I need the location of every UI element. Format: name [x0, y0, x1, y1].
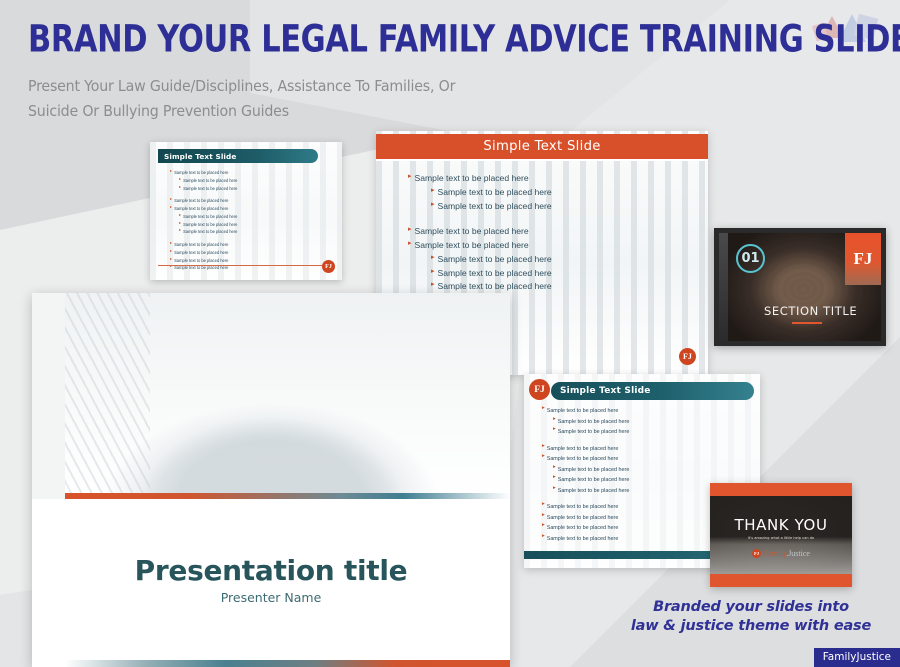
slide-heading-banner: Simple Text Slide: [551, 382, 754, 400]
bullet-arrow-icon: ▸: [179, 213, 181, 217]
bullet-text: Sample text to be placed here: [174, 205, 228, 213]
section-number-badge: 01: [736, 244, 765, 273]
slide-divider-bar: [65, 493, 510, 499]
bullet-arrow-icon: ▸: [170, 257, 172, 261]
bullet-text: Sample text to be placed here: [174, 241, 228, 249]
bullet-text: Sample text to be placed here: [438, 200, 552, 214]
bullet-item: ▸Sample text to be placed here: [179, 177, 285, 185]
slide-title-text: Presentation title: [32, 554, 510, 587]
bullet-text: Sample text to be placed here: [558, 427, 630, 438]
slide-footer-bar: [65, 660, 510, 667]
bullet-arrow-icon: ▸: [431, 254, 435, 261]
bullet-text: Sample text to be placed here: [183, 221, 237, 229]
bullet-arrow-icon: ▸: [431, 281, 435, 288]
slide-background-photo: [710, 496, 852, 574]
footer-tagline-line-2: law & justice theme with ease: [626, 617, 876, 636]
bullet-item: ▸Sample text to be placed here: [542, 406, 692, 417]
bullet-item: ▸Sample text to be placed here: [431, 200, 628, 214]
bullet-item: ▸Sample text to be placed here: [179, 221, 285, 229]
bullet-text: Sample text to be placed here: [183, 185, 237, 193]
bullet-item: ▸Sample text to be placed here: [553, 417, 692, 428]
bullet-item: ▸Sample text to be placed here: [170, 249, 285, 257]
bullet-text: Sample text to be placed here: [558, 486, 630, 497]
bullet-item: ▸Sample text to be placed here: [431, 253, 628, 267]
fj-logo-mark: FJ: [752, 549, 761, 558]
slide-presenter-name: Presenter Name: [32, 590, 510, 605]
slide-left-column: [719, 233, 728, 341]
bullet-text: Sample text to be placed here: [183, 228, 237, 236]
bullet-text: Sample text to be placed here: [438, 267, 552, 281]
slide-heading-text: Simple Text Slide: [560, 386, 651, 396]
bullet-item: ▸Sample text to be placed here: [408, 172, 628, 186]
bullet-arrow-icon: ▸: [408, 240, 412, 247]
bullet-item: ▸Sample text to be placed here: [170, 205, 285, 213]
brand-logo-word-family: Family: [764, 549, 786, 558]
slide-heading-banner: Simple Text Slide: [158, 149, 318, 163]
slide-background-architecture: [32, 293, 510, 498]
bullet-text: Sample text to be placed here: [415, 239, 529, 253]
slide-bullet-list: ▸Sample text to be placed here▸Sample te…: [408, 172, 628, 294]
page-subtitle: Present Your Law Guide/Disciplines, Assi…: [28, 75, 888, 125]
section-title-text: SECTION TITLE: [764, 304, 857, 318]
page-header: BRAND YOUR LEGAL FAMILY ADVICE TRAINING …: [28, 22, 888, 121]
bullet-arrow-icon: ▸: [542, 406, 545, 411]
bullet-text: Sample text to be placed here: [174, 257, 228, 265]
bullet-item: ▸Sample text to be placed here: [542, 502, 692, 513]
bullet-item: ▸Sample text to be placed here: [542, 513, 692, 524]
slide-heading-text: Simple Text Slide: [483, 139, 600, 154]
bullet-arrow-icon: ▸: [179, 185, 181, 189]
bullet-text: Sample text to be placed here: [183, 213, 237, 221]
fj-logo-badge: FJ: [679, 348, 696, 365]
footer-tagline-line-1: Branded your slides into: [626, 598, 876, 617]
bullet-item: ▸Sample text to be placed here: [553, 427, 692, 438]
footer-tagline: Branded your slides into law & justice t…: [626, 598, 876, 635]
brand-logo-text: Family.Justice: [764, 549, 810, 558]
bullet-text: Sample text to be placed here: [547, 502, 619, 513]
thank-you-subtitle: It's amazing what a little help can do: [710, 536, 852, 540]
bullet-text: Sample text to be placed here: [558, 475, 630, 486]
bullet-item: ▸Sample text to be placed here: [179, 228, 285, 236]
page-title: BRAND YOUR LEGAL FAMILY ADVICE TRAINING …: [28, 22, 888, 59]
bullet-item: ▸Sample text to be placed here: [542, 534, 692, 545]
bullet-arrow-icon: ▸: [553, 486, 556, 491]
bullet-arrow-icon: ▸: [542, 502, 545, 507]
bullet-text: Sample text to be placed here: [547, 406, 619, 417]
bullet-arrow-icon: ▸: [553, 417, 556, 422]
bullet-text: Sample text to be placed here: [438, 186, 552, 200]
bullet-arrow-icon: ▸: [553, 427, 556, 432]
bullet-text: Sample text to be placed here: [558, 465, 630, 476]
bullet-text: Sample text to be placed here: [547, 534, 619, 545]
slide-preview-simple-text-small[interactable]: Simple Text Slide ▸Sample text to be pla…: [150, 142, 342, 280]
bullet-arrow-icon: ▸: [542, 513, 545, 518]
brand-badge: FamilyJustice: [814, 648, 900, 667]
bullet-arrow-icon: ▸: [431, 201, 435, 208]
bullet-arrow-icon: ▸: [170, 241, 172, 245]
slide-heading-banner: Simple Text Slide: [376, 134, 708, 161]
bullet-text: Sample text to be placed here: [174, 197, 228, 205]
bullet-item: ▸Sample text to be placed here: [553, 486, 692, 497]
bullet-item: ▸Sample text to be placed here: [542, 454, 692, 465]
bullet-arrow-icon: ▸: [553, 475, 556, 480]
bullet-text: Sample text to be placed here: [438, 253, 552, 267]
bullet-spacer: [408, 214, 628, 225]
bullet-item: ▸Sample text to be placed here: [553, 475, 692, 486]
bullet-arrow-icon: ▸: [179, 177, 181, 181]
bullet-text: Sample text to be placed here: [415, 172, 529, 186]
slide-preview-section-title[interactable]: FJ 01 SECTION TITLE: [714, 228, 886, 346]
fj-logo-badge: FJ: [322, 260, 335, 273]
section-title-underline: [792, 322, 822, 324]
bullet-text: Sample text to be placed here: [547, 454, 619, 465]
page-subtitle-line-2: Suicide Or Bullying Prevention Guides: [28, 99, 888, 124]
bullet-item: ▸Sample text to be placed here: [170, 169, 285, 177]
bullet-item: ▸Sample text to be placed here: [542, 523, 692, 534]
bullet-arrow-icon: ▸: [170, 205, 172, 209]
bullet-item: ▸Sample text to be placed here: [170, 257, 285, 265]
bullet-arrow-icon: ▸: [170, 197, 172, 201]
bullet-item: ▸Sample text to be placed here: [542, 444, 692, 455]
bullet-arrow-icon: ▸: [542, 444, 545, 449]
bullet-text: Sample text to be placed here: [547, 513, 619, 524]
bullet-text: Sample text to be placed here: [183, 177, 237, 185]
bullet-arrow-icon: ▸: [542, 523, 545, 528]
slide-preview-thank-you[interactable]: THANK YOU It's amazing what a little hel…: [710, 483, 852, 587]
bullet-item: ▸Sample text to be placed here: [408, 239, 628, 253]
bullet-item: ▸Sample text to be placed here: [431, 186, 628, 200]
bullet-arrow-icon: ▸: [553, 465, 556, 470]
bullet-arrow-icon: ▸: [179, 228, 181, 232]
bullet-item: ▸Sample text to be placed here: [170, 241, 285, 249]
bullet-arrow-icon: ▸: [431, 187, 435, 194]
slide-bullet-list: ▸Sample text to be placed here▸Sample te…: [170, 169, 285, 272]
fj-logo-badge: FJ: [529, 379, 550, 400]
bullet-item: ▸Sample text to be placed here: [408, 225, 628, 239]
bullet-arrow-icon: ▸: [179, 221, 181, 225]
bullet-text: Sample text to be placed here: [174, 249, 228, 257]
bullet-item: ▸Sample text to be placed here: [553, 465, 692, 476]
fj-logo-tab: FJ: [845, 233, 881, 285]
bullet-arrow-icon: ▸: [542, 534, 545, 539]
bullet-text: Sample text to be placed here: [174, 169, 228, 177]
bullet-item: ▸Sample text to be placed here: [431, 267, 628, 281]
bullet-text: Sample text to be placed here: [415, 225, 529, 239]
bullet-text: Sample text to be placed here: [547, 444, 619, 455]
bullet-arrow-icon: ▸: [408, 173, 412, 180]
brand-logo-word-justice: .Justice: [786, 549, 810, 558]
bullet-item: ▸Sample text to be placed here: [179, 213, 285, 221]
bullet-text: Sample text to be placed here: [558, 417, 630, 428]
bullet-item: ▸Sample text to be placed here: [179, 185, 285, 193]
bullet-arrow-icon: ▸: [408, 226, 412, 233]
slide-preview-title[interactable]: FJ Family.Justice Presentation title Pre…: [32, 293, 510, 667]
bullet-arrow-icon: ▸: [431, 268, 435, 275]
slide-rule: [158, 265, 334, 266]
bullet-arrow-icon: ▸: [170, 249, 172, 253]
slide-bullet-list: ▸Sample text to be placed here▸Sample te…: [542, 406, 692, 544]
brand-logo: FJ Family.Justice: [710, 549, 852, 558]
bullet-arrow-icon: ▸: [170, 169, 172, 173]
bullet-arrow-icon: ▸: [542, 454, 545, 459]
bullet-text: Sample text to be placed here: [547, 523, 619, 534]
slide-heading-text: Simple Text Slide: [164, 152, 236, 161]
thank-you-title: THANK YOU: [710, 516, 852, 534]
page-subtitle-line-1: Present Your Law Guide/Disciplines, Assi…: [28, 75, 888, 100]
bullet-item: ▸Sample text to be placed here: [170, 197, 285, 205]
